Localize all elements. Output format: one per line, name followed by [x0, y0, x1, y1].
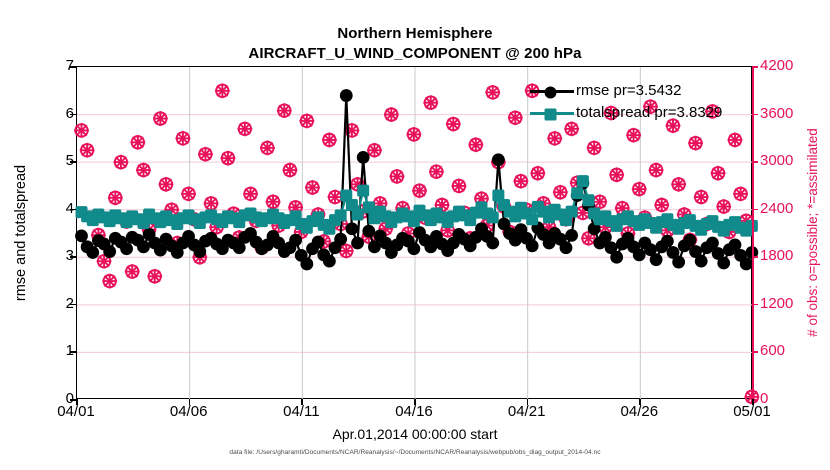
obs-marker-icon: [446, 117, 461, 132]
data-point-rmse: [362, 225, 375, 238]
y2-tick-label: 2400: [760, 201, 818, 216]
obs-marker-icon: [159, 177, 174, 192]
x-tick-mark: [639, 399, 641, 405]
data-point-rmse: [486, 237, 499, 250]
obs-marker-icon: [277, 103, 292, 118]
y-tick-mark: [70, 256, 76, 258]
y-tick-label: 6: [14, 106, 74, 121]
data-point-rmse: [154, 244, 167, 257]
data-point-rmse: [695, 255, 708, 268]
y-tick-label: 7: [14, 58, 74, 73]
obs-marker-icon: [468, 137, 483, 152]
data-point-rmse: [526, 239, 539, 252]
x-tick-mark: [301, 399, 303, 405]
obs-marker-icon: [626, 128, 641, 143]
obs-marker-icon: [181, 186, 196, 201]
data-point-totalspread: [408, 215, 420, 227]
obs-marker-icon: [452, 179, 467, 194]
x-tick-mark: [189, 399, 191, 405]
data-point-rmse: [346, 222, 359, 235]
obs-marker-icon: [305, 180, 320, 195]
obs-marker-icon: [412, 183, 427, 198]
data-point-rmse: [633, 249, 646, 262]
data-point-rmse: [610, 251, 623, 264]
y2-tick-label: 600: [760, 343, 818, 358]
y2-tick-mark: [752, 351, 758, 353]
y2-tick-mark: [752, 161, 758, 163]
data-point-totalspread: [571, 187, 583, 199]
obs-marker-icon: [266, 194, 281, 209]
chart-title: Northern Hemisphere AIRCRAFT_U_WIND_COMP…: [0, 24, 830, 64]
data-point-rmse: [368, 240, 381, 253]
y-tick-label: 2: [14, 296, 74, 311]
data-point-totalspread: [352, 208, 364, 220]
y-tick-mark: [70, 209, 76, 211]
data-point-totalspread: [335, 209, 347, 221]
data-point-totalspread: [566, 206, 578, 218]
data-point-rmse: [560, 241, 573, 254]
legend-label-totalspread: totalspread pr=3.8329: [576, 105, 722, 121]
obs-marker-icon: [694, 190, 709, 205]
x-tick-label: 04/16: [374, 404, 454, 419]
legend-marker-circle-icon: [528, 82, 576, 100]
data-point-rmse: [740, 258, 753, 271]
data-point-rmse: [86, 246, 99, 259]
x-tick-label: 05/01: [712, 404, 792, 419]
x-tick-mark: [414, 399, 416, 405]
y2-tick-mark: [752, 304, 758, 306]
obs-marker-icon: [339, 244, 354, 259]
obs-marker-icon: [423, 95, 438, 110]
obs-marker-icon: [125, 264, 140, 279]
data-file-path: data file: /Users/gharamti/Documents/NCA…: [0, 449, 830, 456]
obs-marker-icon: [406, 127, 421, 142]
obs-marker-icon: [102, 274, 117, 289]
y2-tick-label: 4200: [760, 58, 818, 73]
x-tick-label: 04/01: [36, 404, 116, 419]
x-tick-mark: [527, 399, 529, 405]
data-point-rmse: [661, 235, 674, 248]
data-point-rmse: [334, 233, 347, 246]
obs-marker-icon: [711, 166, 726, 181]
y-axis-label-text: rmse and totalspread: [13, 164, 29, 300]
y-tick-label: 3: [14, 248, 74, 263]
x-tick-label: 04/06: [149, 404, 229, 419]
obs-marker-icon: [587, 140, 602, 155]
data-point-rmse: [684, 234, 697, 247]
obs-marker-icon: [716, 199, 731, 214]
obs-marker-icon: [508, 110, 523, 125]
y2-tick-label: 1200: [760, 296, 818, 311]
data-point-rmse: [492, 153, 505, 166]
legend-item-rmse[interactable]: rmse pr=3.5432: [528, 80, 722, 102]
data-point-rmse: [340, 89, 353, 102]
obs-marker-icon: [384, 107, 399, 122]
data-point-rmse: [289, 234, 302, 247]
chart-page: Northern Hemisphere AIRCRAFT_U_WIND_COMP…: [0, 0, 830, 470]
y-tick-label: 5: [14, 153, 74, 168]
y2-tick-mark: [752, 66, 758, 68]
chart-title-line2: AIRCRAFT_U_WIND_COMPONENT @ 200 hPa: [0, 44, 830, 64]
obs-marker-icon: [176, 131, 191, 146]
data-point-rmse: [75, 229, 88, 242]
data-point-rmse: [120, 242, 133, 255]
legend-label-rmse: rmse pr=3.5432: [576, 83, 681, 99]
obs-marker-icon: [237, 121, 252, 136]
obs-marker-icon: [136, 163, 151, 178]
obs-marker-icon: [649, 163, 664, 178]
obs-marker-icon: [221, 151, 236, 166]
y-tick-mark: [70, 304, 76, 306]
obs-marker-icon: [322, 133, 337, 148]
data-point-rmse: [323, 255, 336, 268]
obs-marker-icon: [632, 182, 647, 197]
data-point-rmse: [565, 229, 578, 242]
y2-tick-mark: [752, 114, 758, 116]
data-point-rmse: [137, 240, 150, 253]
y-tick-label: 1: [14, 343, 74, 358]
obs-marker-icon: [390, 169, 405, 184]
chart-legend[interactable]: rmse pr=3.5432 totalspread pr=3.8329: [524, 78, 728, 126]
y2-tick-label: 1800: [760, 248, 818, 263]
data-point-rmse: [357, 151, 370, 164]
obs-marker-icon: [609, 167, 624, 182]
y-tick-mark: [70, 351, 76, 353]
x-tick-mark: [752, 399, 754, 405]
legend-marker-square-icon: [528, 104, 576, 122]
obs-marker-icon: [592, 194, 607, 209]
data-point-totalspread: [577, 175, 589, 187]
y-tick-mark: [70, 114, 76, 116]
y2-tick-mark: [752, 256, 758, 258]
obs-marker-icon: [671, 177, 686, 192]
y2-tick-label: 3000: [760, 153, 818, 168]
data-point-rmse: [650, 253, 663, 266]
y-tick-mark: [70, 161, 76, 163]
y2-tick-mark: [752, 209, 758, 211]
obs-marker-icon: [204, 196, 219, 211]
obs-marker-icon: [733, 186, 748, 201]
data-point-totalspread: [583, 194, 595, 206]
obs-marker-icon: [130, 135, 145, 150]
obs-marker-icon: [514, 174, 529, 189]
data-point-rmse: [672, 256, 685, 269]
data-point-rmse: [717, 257, 730, 270]
obs-marker-icon: [553, 185, 568, 200]
obs-marker-icon: [530, 166, 545, 181]
obs-marker-icon: [80, 143, 95, 158]
obs-marker-icon: [299, 114, 314, 129]
obs-marker-icon: [485, 85, 500, 100]
obs-marker-icon: [243, 186, 258, 201]
obs-marker-icon: [688, 136, 703, 151]
data-point-rmse: [300, 258, 313, 271]
x-tick-label: 04/21: [487, 404, 567, 419]
data-point-totalspread: [363, 201, 375, 213]
data-point-rmse: [407, 242, 420, 255]
obs-marker-icon: [108, 190, 123, 205]
y2-tick-label: 3600: [760, 106, 818, 121]
obs-marker-icon: [260, 140, 275, 155]
chart-title-line1: Northern Hemisphere: [0, 24, 830, 44]
obs-marker-icon: [215, 83, 230, 98]
right-axis-spine: [752, 66, 754, 399]
obs-marker-icon: [198, 147, 213, 162]
data-point-totalspread: [357, 185, 369, 197]
data-point-totalspread: [487, 211, 499, 223]
legend-item-totalspread[interactable]: totalspread pr=3.8329: [528, 102, 722, 124]
x-tick-label: 04/11: [261, 404, 341, 419]
data-point-rmse: [351, 237, 364, 250]
obs-marker-icon: [728, 133, 743, 148]
obs-marker-icon: [283, 163, 298, 178]
obs-marker-icon: [429, 164, 444, 179]
obs-marker-icon: [147, 269, 162, 284]
y-tick-mark: [70, 66, 76, 68]
x-tick-label: 04/26: [599, 404, 679, 419]
obs-marker-icon: [74, 123, 89, 138]
obs-marker-icon: [153, 111, 168, 126]
data-point-rmse: [103, 245, 116, 258]
x-tick-mark: [76, 399, 78, 405]
obs-marker-icon: [547, 131, 562, 146]
obs-marker-icon: [654, 198, 669, 213]
data-point-rmse: [312, 236, 325, 249]
y-tick-label: 4: [14, 201, 74, 216]
obs-marker-icon: [328, 190, 343, 205]
obs-marker-icon: [114, 155, 129, 170]
x-axis-label: Apr.01,2014 00:00:00 start: [0, 426, 830, 442]
data-point-totalspread: [526, 213, 538, 225]
